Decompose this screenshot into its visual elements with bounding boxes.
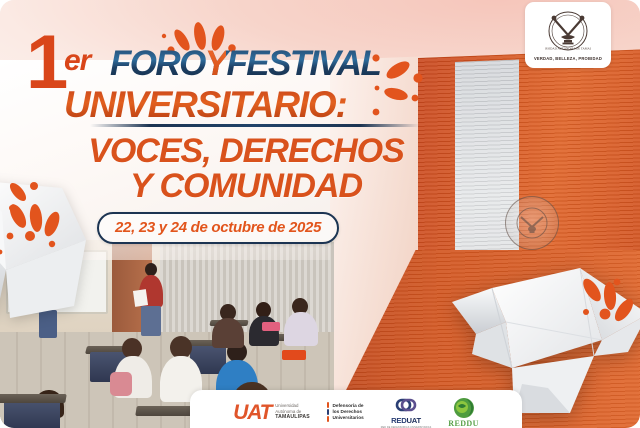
sponsor-logo-bar: UAT Universidad Autónoma de TAMAULIPAS D… [190,390,522,428]
uat-wordmark: UAT [233,402,271,423]
title-ordinal-suffix: er [64,46,90,76]
poster-subtitle: VOCES, DERECHOS Y COMUNIDAD [46,134,446,204]
uat-subtext-line2: Autónoma de [275,409,301,414]
reduat-knot-icon [393,395,419,415]
defensoria-line3: Universitarios [332,415,363,420]
poster-canvas: UNIVERSIDAD AUTONOMA DE TAMAULIPAS VERDA… [0,0,640,428]
reddu-globe-icon [452,397,476,419]
reddu-wordmark: REDDU [448,419,478,428]
subtitle-line-2: Y COMUNIDAD [46,169,446,204]
origami-paper-dove [452,248,640,413]
defensoria-line2: los Derechos [332,409,361,414]
title-word-festival: FESTIVAL [226,44,380,83]
defensoria-text: Defensoría de los Derechos Universitario… [332,403,363,420]
title-divider [90,124,420,127]
logo-reddu: REDDU [448,397,478,428]
facade-emblem-icon [505,196,559,250]
subtitle-line-1: VOCES, DERECHOS [88,132,404,170]
title-block: 1 er FOROYFESTIVAL UNIVERSITARIO: VOCES,… [26,26,446,130]
seal-motto: VERDAD, BELLEZA, PROBIDAD [534,56,602,61]
uat-seal-card: UNIVERSIDAD AUTONOMA DE TAMAULIPAS VERDA… [525,2,611,68]
title-universitario: UNIVERSITARIO: [64,86,347,123]
uat-subtext-line1: Universidad [275,403,298,408]
title-word-foro: FORO [110,44,205,83]
reduat-wordmark: REDUAT [391,416,421,425]
defensoria-line1: Defensoría de [332,403,363,408]
logo-reduat: REDUAT RED DE DEFENSORIAS UNIVERSITARIAS [381,395,432,428]
defensoria-bars-icon [327,402,330,422]
uat-seal-icon: UNIVERSIDAD AUTONOMA DE TAMAULIPAS [545,10,591,54]
logo-uat: UAT Universidad Autónoma de TAMAULIPAS [233,402,310,423]
reduat-label-red: RED [391,416,406,425]
uat-subtext: Universidad Autónoma de TAMAULIPAS [275,403,310,421]
title-line-one: 1 er FOROYFESTIVAL [26,26,446,84]
title-foro-y-festival: FOROYFESTIVAL [110,46,380,81]
event-date-badge: 22, 23 y 24 de octubre de 2025 [97,212,339,244]
uat-subtext-line3: TAMAULIPAS [275,414,310,420]
logo-defensoria: Defensoría de los Derechos Universitario… [327,402,364,422]
seal-ring-text: UNIVERSIDAD AUTONOMA DE TAMAULIPAS [545,46,591,50]
title-word-conjunction: Y [205,44,227,83]
reduat-label-uat: UAT [407,416,421,425]
